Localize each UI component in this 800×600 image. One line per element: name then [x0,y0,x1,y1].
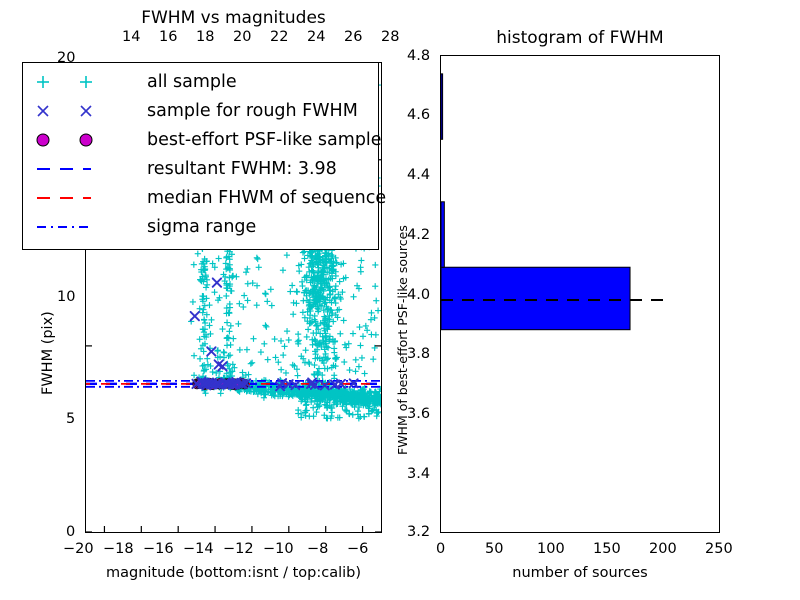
left-x-axis-label: magnitude (bottom:isnt / top:calib) [85,565,382,581]
x-tick-label: 0 [436,541,445,557]
x-tick-label: −8 [307,541,328,557]
x-tick-label: 200 [649,541,677,557]
plus-icon [29,69,147,95]
legend[interactable]: all sample sample for rough FWHM [22,62,379,250]
top-tick-label: 28 [381,29,399,45]
legend-label: median FHWM of sequence [147,188,386,208]
legend-label: resultant FWHM: 3.98 [147,159,337,179]
x-tick-label: 100 [537,541,565,557]
right-plot-title: histogram of FWHM [440,28,720,48]
legend-label: best-effort PSF-like sample [147,130,382,150]
x-tick-label: −6 [347,541,368,557]
y-tick-label: 10 [57,289,75,305]
x-tick-label: −16 [143,541,174,557]
red-dashed-line-icon [29,185,147,211]
panel-histogram-of-fwhm: histogram of FWHM FWHM of best-effort PS… [400,0,800,600]
legend-label: sample for rough FWHM [147,101,358,121]
x-tick-label: 50 [485,541,503,557]
y-tick-label: 3.2 [407,524,430,540]
x-tick-label: −14 [183,541,214,557]
y-tick-label: 5 [66,411,75,427]
top-tick-label: 24 [307,29,325,45]
right-x-axis-label: number of sources [440,565,720,581]
x-tick-label: 150 [593,541,621,557]
x-tick-label: −20 [63,541,94,557]
y-tick-label: 4.6 [407,107,430,123]
legend-item-all-sample[interactable]: all sample [29,69,237,95]
top-tick-label: 16 [159,29,177,45]
right-axes-frame [440,55,720,533]
legend-item-sigma-range[interactable]: sigma range [29,214,256,240]
top-tick-label: 20 [233,29,251,45]
top-tick-label: 26 [344,29,362,45]
left-plot-title: FWHM vs magnitudes [85,8,382,28]
legend-item-resultant-fwhm[interactable]: resultant FWHM: 3.98 [29,156,337,182]
figure-canvas: FWHM vs magnitudes 14 16 18 20 22 24 26 … [0,0,800,600]
top-tick-label: 18 [196,29,214,45]
legend-label: sigma range [147,217,256,237]
y-tick-label: 3.4 [407,466,430,482]
y-tick-label: 0 [66,524,75,540]
blue-dashed-line-icon [29,156,147,182]
cross-icon [29,98,147,124]
legend-item-median-fhwm[interactable]: median FHWM of sequence [29,185,386,211]
y-tick-label: 3.8 [407,346,430,362]
y-tick-label: 4.0 [407,287,430,303]
y-tick-label: 3.6 [407,406,430,422]
filled-circle-icon [29,127,147,153]
blue-dashdot-line-icon [29,214,147,240]
legend-item-psf-like[interactable]: best-effort PSF-like sample [29,127,382,153]
x-tick-label: 250 [705,541,733,557]
legend-item-rough-fwhm[interactable]: sample for rough FWHM [29,98,358,124]
x-tick-label: −12 [223,541,254,557]
left-y-axis-label: FWHM (pix) [40,311,56,395]
y-tick-label: 4.4 [407,167,430,183]
x-tick-label: −10 [263,541,294,557]
legend-label: all sample [147,72,237,92]
top-tick-label: 22 [270,29,288,45]
top-tick-label: 14 [122,29,140,45]
x-tick-label: −18 [103,541,134,557]
right-plot-canvas [441,56,719,532]
y-tick-label: 4.2 [407,227,430,243]
y-tick-label: 4.8 [407,48,430,64]
